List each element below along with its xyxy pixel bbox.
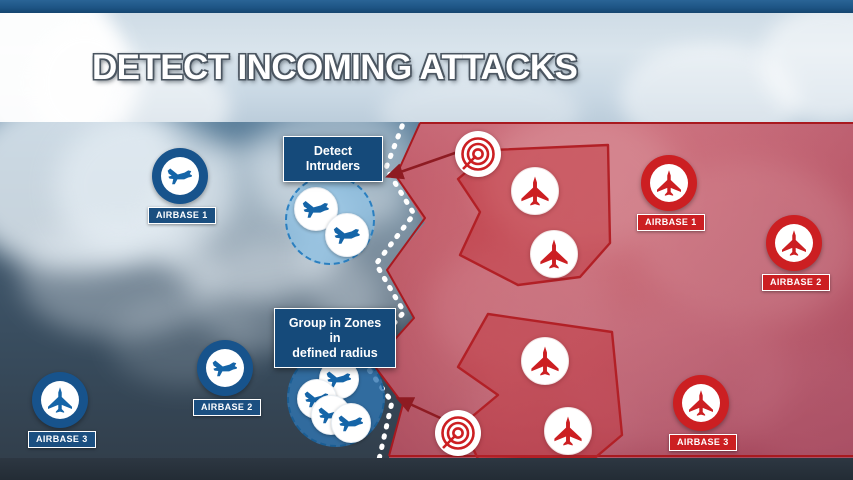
base-disc	[673, 375, 729, 431]
page-title: DETECT INCOMING ATTACKS	[92, 48, 577, 88]
bomber-jet-icon	[686, 388, 716, 418]
cloud-decor	[740, 352, 853, 458]
base-disc	[641, 155, 697, 211]
base-disc	[32, 372, 88, 428]
radar-target-icon	[440, 415, 476, 451]
cloud-decor	[430, 242, 610, 372]
red-airbase-1[interactable]: AIRBASE 1	[637, 155, 701, 231]
base-disc-inner	[206, 349, 244, 387]
radar-target-icon	[460, 136, 496, 172]
hostile-aircraft[interactable]	[511, 167, 559, 215]
callout-line: defined radius	[284, 346, 386, 361]
base-label: AIRBASE 1	[148, 207, 216, 224]
callout-line: Intruders	[293, 159, 373, 174]
friendly-aircraft[interactable]	[325, 213, 369, 257]
bomber-jet-icon	[779, 228, 809, 258]
red-airbase-3[interactable]: AIRBASE 3	[669, 375, 733, 451]
base-disc-inner	[682, 384, 720, 422]
base-label: AIRBASE 1	[637, 214, 705, 231]
fighter-jet-icon	[300, 193, 332, 225]
callout-detect-intruders[interactable]: Detect Intruders	[283, 136, 383, 182]
radar-target-south[interactable]	[435, 410, 481, 456]
base-disc	[152, 148, 208, 204]
bomber-jet-icon	[537, 237, 571, 271]
hostile-aircraft[interactable]	[544, 407, 592, 455]
bomber-jet-icon	[45, 385, 75, 415]
detect-intruders-radius[interactable]	[285, 175, 375, 265]
friendly-aircraft[interactable]	[331, 403, 371, 443]
bomber-jet-icon	[528, 344, 562, 378]
hostile-aircraft[interactable]	[521, 337, 569, 385]
base-label: AIRBASE 3	[669, 434, 737, 451]
base-disc-inner	[650, 164, 688, 202]
bottom-strip	[0, 458, 853, 480]
base-disc-inner	[161, 157, 199, 195]
red-airbase-2[interactable]: AIRBASE 2	[762, 215, 826, 291]
bomber-jet-icon	[654, 168, 684, 198]
top-accent-band	[0, 0, 853, 13]
hostile-aircraft[interactable]	[530, 230, 578, 278]
base-label: AIRBASE 2	[193, 399, 261, 416]
fighter-jet-icon	[165, 161, 195, 191]
map-panel: AIRBASE 1 AIRBASE 2 AIRBASE 3	[0, 122, 853, 458]
base-disc-inner	[775, 224, 813, 262]
base-label: AIRBASE 2	[762, 274, 830, 291]
callout-line: Group in Zones in	[284, 316, 386, 346]
base-disc	[197, 340, 253, 396]
callout-line: Detect	[293, 144, 373, 159]
base-label: AIRBASE 3	[28, 431, 96, 448]
fighter-jet-icon	[336, 408, 366, 438]
slide-canvas: DETECT INCOMING ATTACKS	[0, 0, 853, 480]
fighter-jet-icon	[210, 353, 240, 383]
base-disc	[766, 215, 822, 271]
fighter-jet-icon	[331, 219, 363, 251]
base-disc-inner	[41, 381, 79, 419]
blue-airbase-3[interactable]: AIRBASE 3	[28, 372, 92, 448]
blue-airbase-2[interactable]: AIRBASE 2	[193, 340, 257, 416]
bomber-jet-icon	[551, 414, 585, 448]
blue-airbase-1[interactable]: AIRBASE 1	[148, 148, 212, 224]
radar-target-north[interactable]	[455, 131, 501, 177]
callout-group-zones[interactable]: Group in Zones in defined radius	[274, 308, 396, 368]
bomber-jet-icon	[518, 174, 552, 208]
